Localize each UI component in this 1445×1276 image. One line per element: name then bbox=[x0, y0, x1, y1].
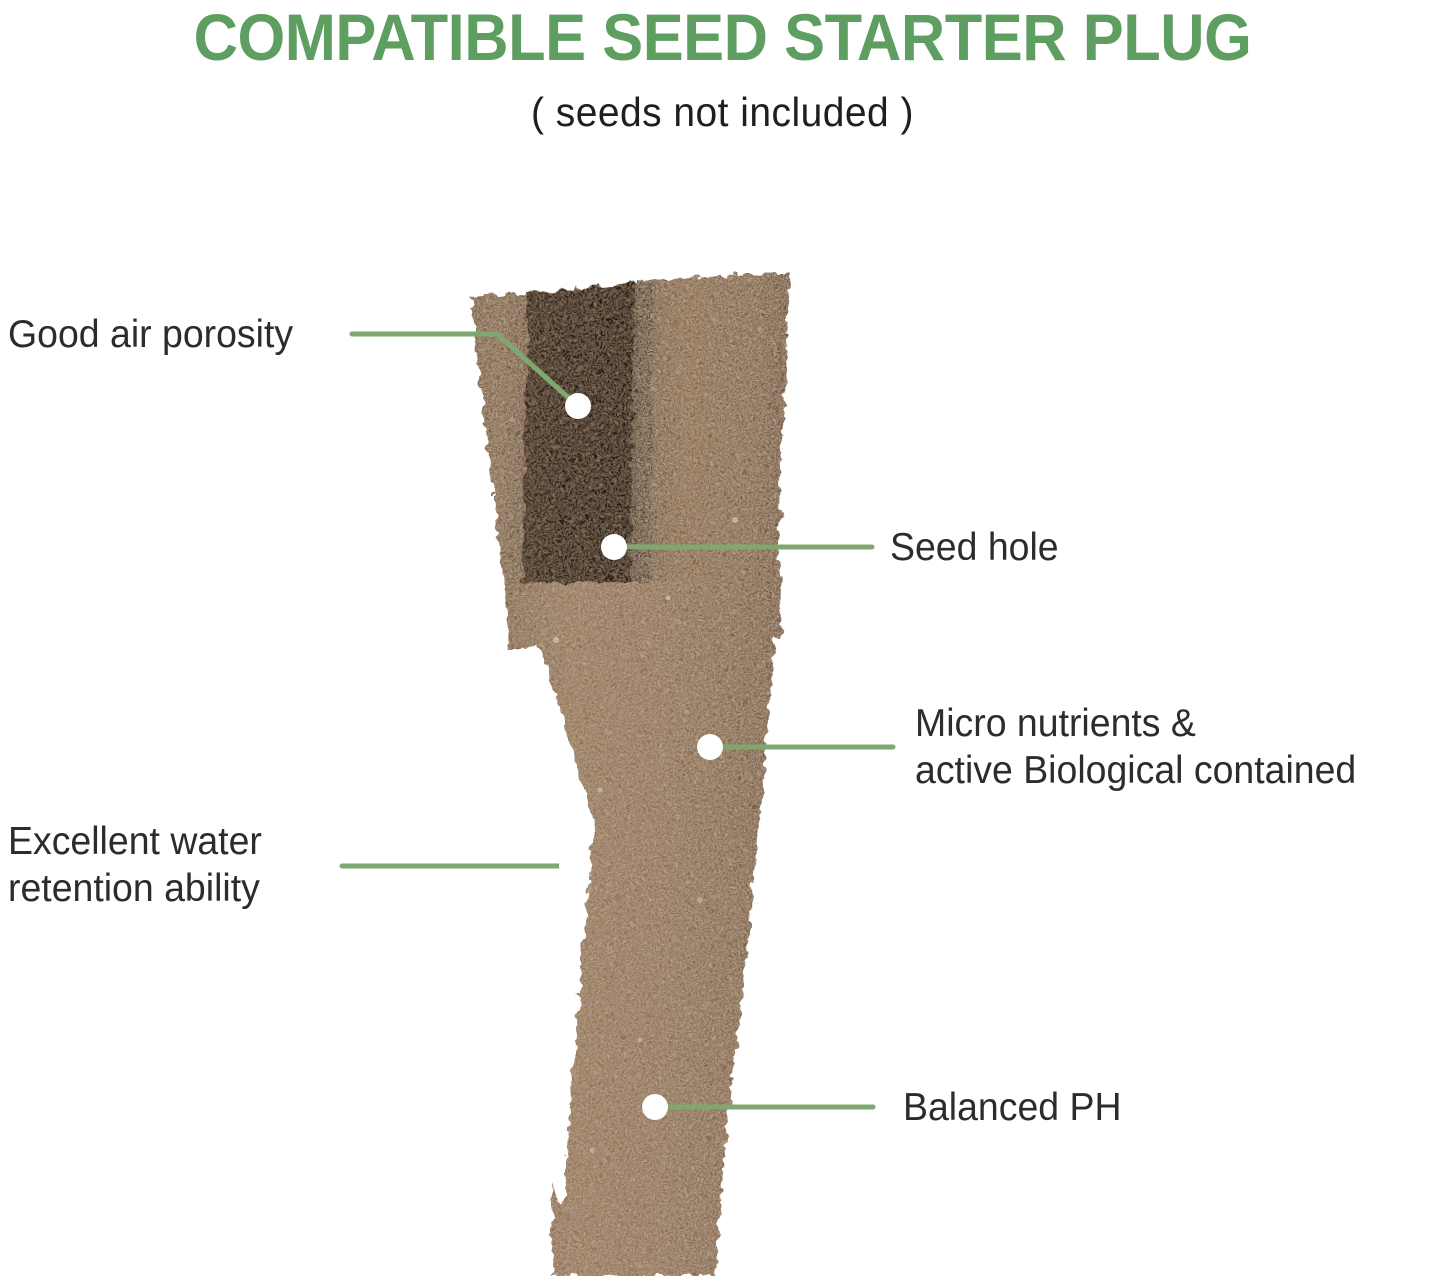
callout-label-micro-nutrients-line1: Micro nutrients & bbox=[915, 702, 1196, 745]
callout-label-good-air-porosity: Good air porosity bbox=[8, 311, 293, 358]
callout-label-micro-nutrients: Micro nutrients &active Biological conta… bbox=[915, 700, 1356, 794]
callout-label-water-retention: Excellent waterretention ability bbox=[8, 818, 262, 912]
page-subtitle: ( seeds not included ) bbox=[36, 88, 1409, 136]
seed-starter-plug-illustration bbox=[0, 0, 1445, 1276]
page-title: COMPATIBLE SEED STARTER PLUG bbox=[51, 2, 1395, 72]
callout-dot-balanced-ph bbox=[642, 1094, 668, 1120]
callout-label-micro-nutrients-line2: active Biological contained bbox=[915, 749, 1356, 792]
plug-graphic bbox=[0, 0, 1445, 1276]
callout-dot-micro-nutrients bbox=[697, 734, 723, 760]
callout-label-seed-hole: Seed hole bbox=[890, 524, 1059, 571]
product-infographic: COMPATIBLE SEED STARTER PLUG ( seeds not… bbox=[0, 0, 1445, 1276]
callout-label-water-retention-line1: Excellent water bbox=[8, 820, 262, 863]
callout-label-water-retention-line2: retention ability bbox=[8, 867, 260, 910]
callout-dot-good-air-porosity bbox=[565, 393, 591, 419]
plug-upper-right-wall bbox=[637, 272, 790, 600]
plug-body-top-blend bbox=[506, 576, 782, 648]
callout-dot-water-retention bbox=[559, 853, 585, 879]
plug-body bbox=[513, 560, 780, 1276]
plug-seam bbox=[630, 283, 654, 600]
callout-label-balanced-ph: Balanced PH bbox=[903, 1084, 1122, 1131]
callout-dot-seed-hole bbox=[601, 534, 627, 560]
